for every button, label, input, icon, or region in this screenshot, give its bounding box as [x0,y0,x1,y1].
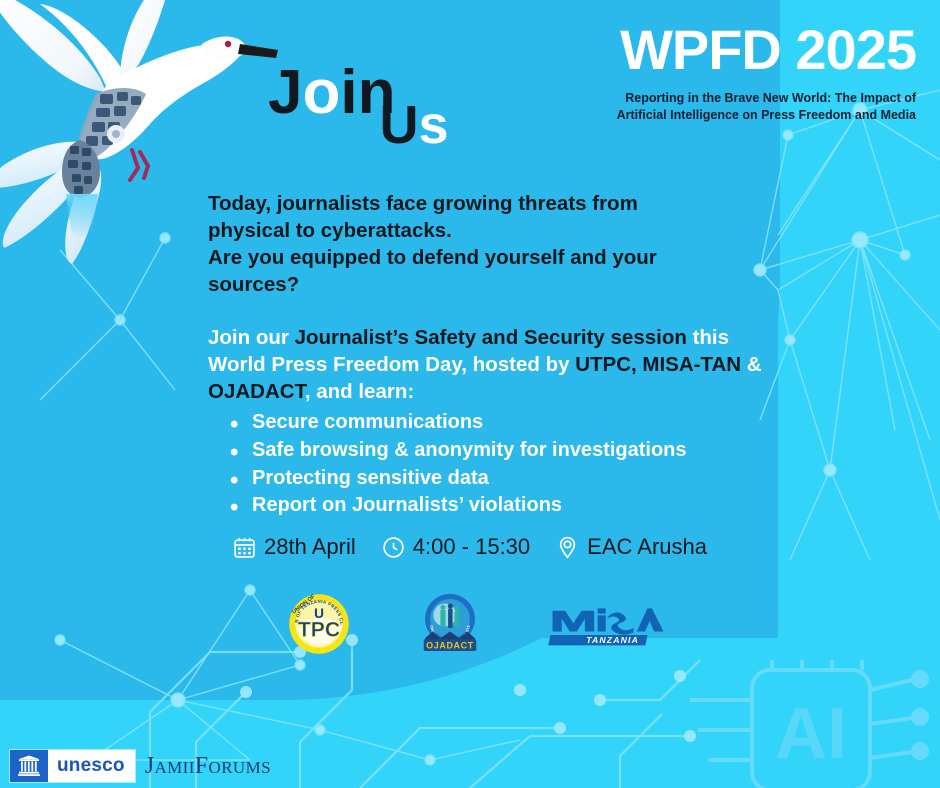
join-letter-j: J [268,58,302,127]
location-pin-icon [555,535,580,560]
ojadact-logo: ORGANIZATION OF JOURNALISTS OJADACT [414,592,486,656]
page-subtitle: Reporting in the Brave New World: The Im… [586,90,916,124]
invite-hosts-1: UTPC, MISA-TAN [575,353,741,376]
invite-part-1: Join our [208,326,295,349]
invite-hosts-2: OJADACT [208,380,305,403]
jamiiforums-logo: JamiiForums [145,754,271,778]
svg-text:TANZANIA: TANZANIA [586,635,639,645]
svg-text:TPC: TPC [298,618,340,641]
threat-line-1: Today, journalists face growing threats … [208,192,638,215]
threat-paragraph: Today, journalists face growing threats … [208,190,768,298]
event-location: EAC Arusha [555,534,707,560]
event-date: 28th April [232,534,356,560]
invite-session-name: Journalist’s Safety and Security session [295,326,687,349]
invite-ampersand: & [741,353,762,376]
ai-chip-icon: AI [690,660,940,788]
event-time: 4:00 - 15:30 [381,534,530,560]
topics-list: Secure communications Safe browsing & an… [208,409,768,519]
list-item: Report on Journalists’ violations [208,492,768,520]
event-details: 28th April 4:00 - 15:30 EAC Arusha [232,534,707,560]
poster-canvas: WPFD 2025 Reporting in the Brave New Wor… [0,0,940,788]
list-item: Protecting sensitive data [208,465,768,493]
threat-line-3: Are you equipped to defend yourself and … [208,246,657,269]
threat-line-2: physical to cyberattacks. [208,219,452,242]
event-time-text: 4:00 - 15:30 [413,534,530,560]
join-us-heading: JoinUs [268,62,465,124]
list-item: Secure communications [208,409,768,437]
unesco-wordmark: unesco [48,750,135,782]
us-letter-u: U [379,95,418,155]
threat-line-4: sources? [208,273,299,296]
unesco-logo: unesco [10,750,135,782]
partner-logos: UNION OF UNION OF TANZANIA PRESS CLUBS U… [286,592,668,656]
us-letter-s: s [418,95,448,155]
body-copy: Today, journalists face growing threats … [208,190,768,520]
event-date-text: 28th April [264,534,356,560]
utpc-logo: UNION OF UNION OF TANZANIA PRESS CLUBS U… [286,593,352,655]
calendar-icon [232,535,257,560]
svg-text:OJADACT: OJADACT [426,640,474,650]
misa-tanzania-logo: TANZANIA [548,598,668,650]
chip-label: AI [775,694,847,774]
invitation-paragraph: Join our Journalist’s Safety and Securit… [208,324,768,405]
event-location-text: EAC Arusha [587,534,707,560]
join-letter-o: o [302,58,340,127]
clock-icon [381,535,406,560]
invite-part-7: , and learn: [305,380,414,403]
list-item: Safe browsing & anonymity for investigat… [208,437,768,465]
page-title: WPFD 2025 [620,22,916,78]
unesco-temple-icon [10,750,48,782]
footer-logos: unesco JamiiForums [10,750,271,782]
